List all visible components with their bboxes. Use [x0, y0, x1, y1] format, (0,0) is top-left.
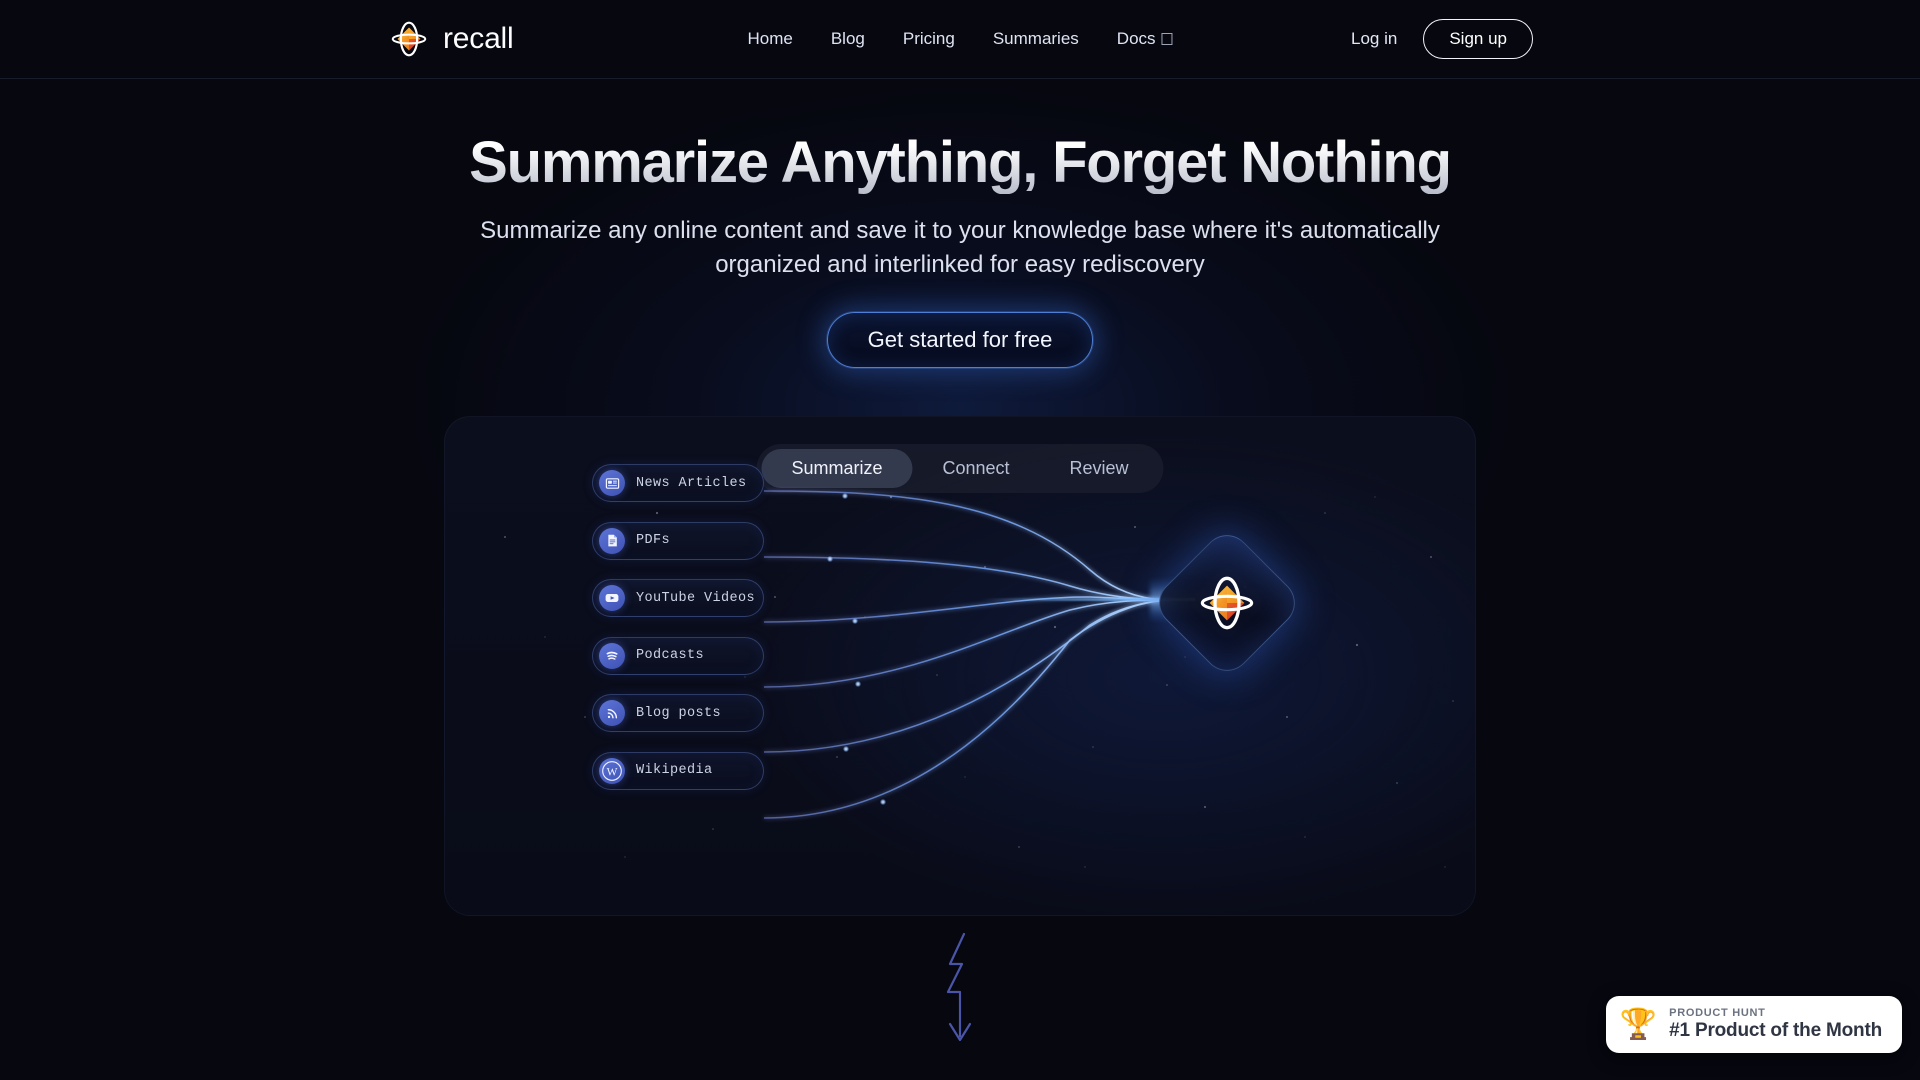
tab-connect[interactable]: Connect	[912, 449, 1039, 488]
recall-logo-icon	[386, 16, 432, 62]
hero-section: Summarize Anything, Forget Nothing Summa…	[0, 132, 1920, 368]
product-hunt-kicker: PRODUCT HUNT	[1669, 1007, 1882, 1019]
hero-subtitle: Summarize any online content and save it…	[460, 214, 1460, 282]
auth-actions: Log in Sign up	[1347, 19, 1533, 59]
svg-text:W: W	[607, 766, 618, 778]
login-link[interactable]: Log in	[1347, 23, 1401, 55]
product-hunt-text: PRODUCT HUNT #1 Product of the Month	[1669, 1007, 1882, 1042]
nav-link-docs-label: Docs	[1117, 29, 1156, 49]
nav-link-pricing-label: Pricing	[903, 29, 955, 49]
source-pill-label: Wikipedia	[636, 763, 713, 778]
source-pill-blog-posts[interactable]: Blog posts	[592, 694, 764, 732]
source-pill-list: News Articles PDFs YouTube Videos	[592, 464, 764, 790]
page-title: Summarize Anything, Forget Nothing	[0, 132, 1920, 194]
source-pill-label: YouTube Videos	[636, 591, 755, 606]
nav-link-docs[interactable]: Docs	[1098, 20, 1192, 58]
source-pill-youtube-videos[interactable]: YouTube Videos	[592, 579, 764, 617]
site-header: recall Home Blog Pricing Summaries Docs	[0, 0, 1920, 79]
pdf-document-icon	[599, 528, 625, 554]
product-hunt-title: #1 Product of the Month	[1669, 1020, 1882, 1042]
source-pill-label: PDFs	[636, 533, 670, 548]
nav-link-pricing[interactable]: Pricing	[884, 20, 974, 58]
nav-link-summaries-label: Summaries	[993, 29, 1079, 49]
brand-name: recall	[443, 22, 514, 56]
nav-link-home[interactable]: Home	[728, 20, 811, 58]
nav-link-summaries[interactable]: Summaries	[974, 20, 1098, 58]
newspaper-icon	[599, 470, 625, 496]
cta-container: Get started for free	[0, 312, 1920, 368]
youtube-icon	[599, 585, 625, 611]
source-pill-podcasts[interactable]: Podcasts	[592, 637, 764, 675]
tab-review[interactable]: Review	[1040, 449, 1159, 488]
nav-link-home-label: Home	[747, 29, 792, 49]
podcast-waves-icon	[599, 643, 625, 669]
source-pill-pdfs[interactable]: PDFs	[592, 522, 764, 560]
main-navigation: Home Blog Pricing Summaries Docs	[728, 20, 1191, 58]
nav-link-blog[interactable]: Blog	[812, 20, 884, 58]
brand-logo-link[interactable]: recall	[386, 16, 514, 62]
source-pill-label: Podcasts	[636, 648, 704, 663]
tab-summarize[interactable]: Summarize	[761, 449, 912, 488]
recall-logo-icon	[1195, 571, 1259, 635]
external-link-icon	[1162, 33, 1173, 45]
source-pill-label: News Articles	[636, 476, 747, 491]
signup-button[interactable]: Sign up	[1423, 19, 1533, 59]
scroll-down-hint[interactable]	[930, 930, 990, 1055]
wikipedia-w-icon: W	[599, 758, 625, 784]
showcase-tabs: Summarize Connect Review	[756, 444, 1163, 493]
trophy-icon: 🏆	[1620, 1010, 1657, 1040]
zigzag-down-arrow-icon	[930, 930, 990, 1050]
page-root: recall Home Blog Pricing Summaries Docs	[0, 0, 1920, 1080]
source-pill-wikipedia[interactable]: W Wikipedia	[592, 752, 764, 790]
product-hunt-badge[interactable]: 🏆 PRODUCT HUNT #1 Product of the Month	[1606, 996, 1902, 1053]
rss-icon	[599, 700, 625, 726]
source-pill-label: Blog posts	[636, 706, 721, 721]
nav-link-blog-label: Blog	[831, 29, 865, 49]
source-pill-news-articles[interactable]: News Articles	[592, 464, 764, 502]
get-started-button[interactable]: Get started for free	[827, 312, 1094, 368]
